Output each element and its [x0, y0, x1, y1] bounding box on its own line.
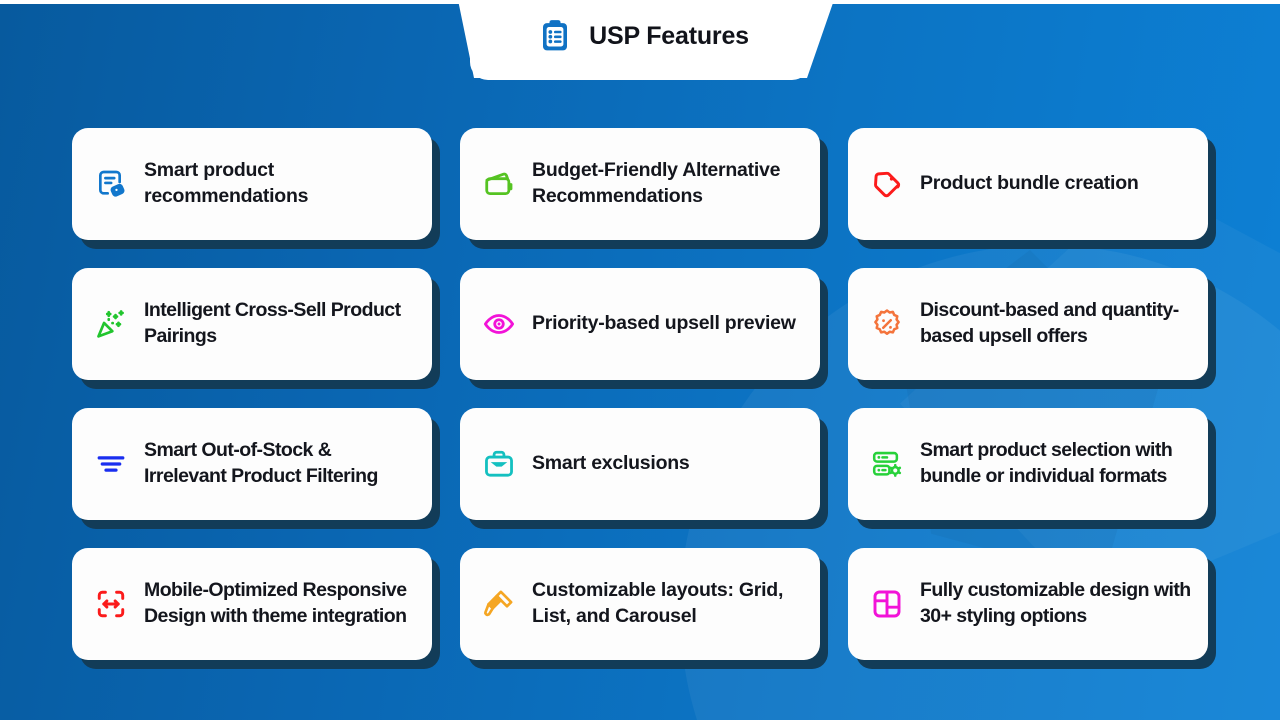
filter-lines-icon: [94, 447, 128, 481]
layout-grid-icon: [870, 587, 904, 621]
card-body[interactable]: Budget-Friendly Alternative Recommendati…: [460, 128, 820, 240]
responsive-arrows-icon: [94, 587, 128, 621]
feature-card-grid: Smart product recommendations Budget-Fri…: [72, 128, 1208, 660]
feature-card[interactable]: Mobile-Optimized Responsive Design with …: [72, 548, 432, 660]
card-label: Mobile-Optimized Responsive Design with …: [144, 578, 416, 629]
feature-card[interactable]: Smart product selection with bundle or i…: [848, 408, 1208, 520]
page-title: USP Features: [589, 22, 749, 51]
feature-card[interactable]: Priority-based upsell preview: [460, 268, 820, 380]
card-label: Discount-based and quantity-based upsell…: [920, 298, 1192, 349]
server-settings-icon: [870, 447, 904, 481]
card-label: Smart product recommendations: [144, 158, 416, 209]
card-body[interactable]: Product bundle creation: [848, 128, 1208, 240]
feature-card[interactable]: Product bundle creation: [848, 128, 1208, 240]
card-label: Smart product selection with bundle or i…: [920, 438, 1192, 489]
card-body[interactable]: Fully customizable design with 30+ styli…: [848, 548, 1208, 660]
feature-card[interactable]: Customizable layouts: Grid, List, and Ca…: [460, 548, 820, 660]
card-body[interactable]: Smart product recommendations: [72, 128, 432, 240]
header: USP Features: [452, 0, 834, 72]
confetti-sparkle-icon: [94, 307, 128, 341]
briefcase-icon: [482, 447, 516, 481]
feature-card[interactable]: Fully customizable design with 30+ styli…: [848, 548, 1208, 660]
card-label: Smart Out-of-Stock & Irrelevant Product …: [144, 438, 416, 489]
card-body[interactable]: Discount-based and quantity-based upsell…: [848, 268, 1208, 380]
card-label: Priority-based upsell preview: [532, 311, 796, 337]
feature-card[interactable]: Smart exclusions: [460, 408, 820, 520]
feature-card[interactable]: Discount-based and quantity-based upsell…: [848, 268, 1208, 380]
card-body[interactable]: Smart product selection with bundle or i…: [848, 408, 1208, 520]
card-label: Smart exclusions: [532, 451, 689, 477]
feature-card[interactable]: Budget-Friendly Alternative Recommendati…: [460, 128, 820, 240]
usp-features-infographic: USP Features Smart product recommendatio…: [0, 0, 1280, 720]
card-body[interactable]: Mobile-Optimized Responsive Design with …: [72, 548, 432, 660]
eye-icon: [482, 307, 516, 341]
card-label: Product bundle creation: [920, 171, 1139, 197]
card-body[interactable]: Priority-based upsell preview: [460, 268, 820, 380]
card-label: Fully customizable design with 30+ styli…: [920, 578, 1192, 629]
card-body[interactable]: Smart Out-of-Stock & Irrelevant Product …: [72, 408, 432, 520]
feature-card[interactable]: Smart product recommendations: [72, 128, 432, 240]
wallet-icon: [482, 167, 516, 201]
card-body[interactable]: Smart exclusions: [460, 408, 820, 520]
card-label: Customizable layouts: Grid, List, and Ca…: [532, 578, 804, 629]
discount-badge-icon: [870, 307, 904, 341]
card-body[interactable]: Intelligent Cross-Sell Product Pairings: [72, 268, 432, 380]
feature-card[interactable]: Smart Out-of-Stock & Irrelevant Product …: [72, 408, 432, 520]
card-label: Budget-Friendly Alternative Recommendati…: [532, 158, 804, 209]
card-label: Intelligent Cross-Sell Product Pairings: [144, 298, 416, 349]
clipboard-list-icon: [537, 18, 573, 54]
feature-card[interactable]: Intelligent Cross-Sell Product Pairings: [72, 268, 432, 380]
paintbrush-icon: [482, 587, 516, 621]
card-body[interactable]: Customizable layouts: Grid, List, and Ca…: [460, 548, 820, 660]
price-tag-icon: [870, 167, 904, 201]
document-tag-icon: [94, 167, 128, 201]
